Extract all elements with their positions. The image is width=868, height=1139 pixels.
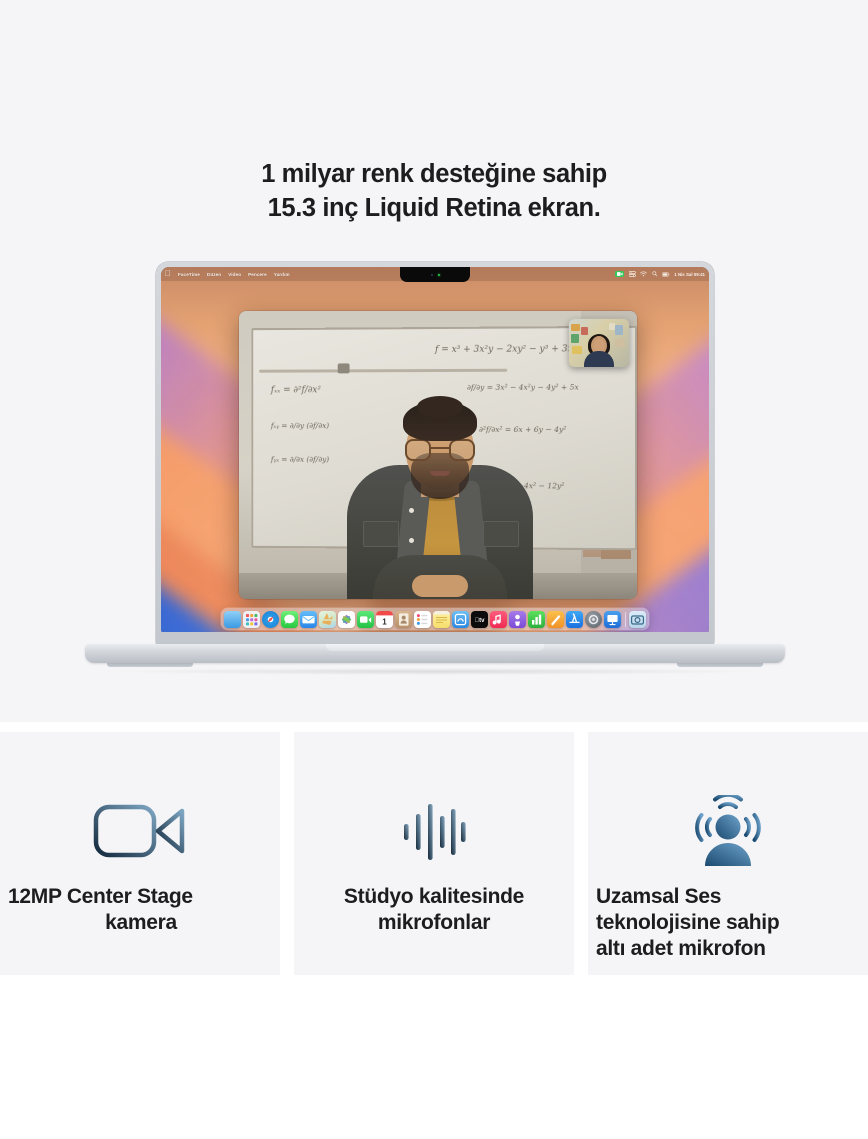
jacket-pocket-right [483,521,519,547]
laptop-base-notch [326,644,544,651]
facetime-window[interactable]: fₓₓ = ∂²f/∂x² fₓᵧ = ∂/∂y (∂f/∂x) fᵧₓ = ∂… [239,311,637,599]
page-title-line-1: 1 milyar renk desteğine sahip [0,158,868,192]
camera-on-dot [438,274,440,276]
dock-icon-reminders[interactable] [414,611,431,628]
menu-item-yardim[interactable]: Yardım [274,272,290,277]
pip-participant-body [584,351,614,367]
pip-poster [609,323,615,330]
whiteboard-equation: fₓₓ = ∂²f/∂x² [271,385,321,395]
dock-icon-mail[interactable] [300,611,317,628]
dock-icon-freeform[interactable] [452,611,469,628]
dock-icon-calendar[interactable]: 1 [376,611,393,628]
jacket-button [409,538,414,543]
laptop-screen:  FaceTime Düzen Video Pencere Yardım [161,267,709,632]
feature-card-spatial-audio: Uzamsal Ses teknolojisine sahip altı ade… [588,732,868,975]
glasses-lens-left [405,439,431,461]
search-icon[interactable] [652,271,658,277]
menu-bar-status-group: 1 Nis Sal 09:41 [615,271,705,277]
facetime-video-feed: fₓₓ = ∂²f/∂x² fₓᵧ = ∂/∂y (∂f/∂x) fᵧₓ = ∂… [239,311,637,599]
dock-icon-app-store[interactable] [566,611,583,628]
dock-icon-contacts[interactable] [395,611,412,628]
pip-poster [571,334,579,343]
dock-icon-notes[interactable] [433,611,450,628]
participant-mouth [430,471,450,476]
glasses-bridge [431,447,449,449]
menu-item-duzen[interactable]: Düzen [207,272,221,277]
laptop-base [85,644,785,674]
product-feature-page: 1 milyar renk desteğine sahip 15.3 inç L… [0,0,868,1139]
dock-icon-finder[interactable] [224,611,241,628]
menu-bar-left-group:  FaceTime Düzen Video Pencere Yardım [165,270,290,278]
pip-poster [615,325,623,335]
feature-label-line-2: teknolojisine sahip [596,910,862,936]
dock-icon-facetime[interactable] [357,611,374,628]
dock-icon-podcasts[interactable] [509,611,526,628]
feature-label-line-2: mikrofonlar [300,910,568,936]
dock-icon-pages[interactable] [547,611,564,628]
spatial-audio-person-icon [588,788,868,874]
audio-waveform-icon [294,788,574,874]
jacket-pocket-left [363,521,399,547]
feature-card-microphones-label: Stüdyo kalitesinde mikrofonlar [294,884,574,936]
glasses-lens-right [449,439,475,461]
feature-card-microphones: Stüdyo kalitesinde mikrofonlar [294,732,574,975]
menu-bar-clock[interactable]: 1 Nis Sal 09:41 [674,272,705,277]
laptop-lid:  FaceTime Düzen Video Pencere Yardım [156,262,714,646]
dock-icon-music[interactable] [490,611,507,628]
menu-item-facetime[interactable]: FaceTime [178,272,200,277]
whiteboard-equation: fₓᵧ = ∂/∂y (∂f/∂x) [271,421,329,430]
feature-label-line-1: Stüdyo kalitesinde [344,885,524,908]
battery-icon[interactable] [662,272,670,277]
feature-card-camera-label: 12MP Center Stage kamera [0,884,280,936]
dock-icon-system-settings[interactable] [585,611,602,628]
video-camera-icon [0,788,280,874]
ambient-sensor-dot [431,274,433,276]
pip-participant [584,333,614,367]
facetime-main-participant [347,399,533,599]
wifi-icon[interactable] [640,271,647,277]
dock-icon-launchpad[interactable] [243,611,260,628]
laptop-base-body [85,644,785,663]
page-title: 1 milyar renk desteğine sahip 15.3 inç L… [0,158,868,226]
feature-cards: 12MP Center Stage kamera [0,732,868,975]
menu-item-video[interactable]: Video [228,272,241,277]
dock-icon-keynote[interactable] [604,611,621,628]
camera-notch-icon [400,267,470,282]
laptop-foot-right [677,663,763,667]
pip-poster [571,324,580,331]
feature-label-line-1: 12MP Center Stage [8,885,193,908]
jacket-button [409,508,414,513]
dock-icon-messages[interactable] [281,611,298,628]
participant-hands [412,575,468,597]
whiteboard-clip [338,363,350,373]
dock-icon-numbers[interactable] [528,611,545,628]
laptop-shadow [115,668,755,675]
macbook-air-device:  FaceTime Düzen Video Pencere Yardım [85,262,785,674]
dock-icon-apple-tv[interactable]: tv [471,611,488,628]
svg-text:1: 1 [382,617,387,626]
whiteboard-equation: fᵧₓ = ∂/∂x (∂f/∂y) [271,455,329,464]
macos-dock[interactable]: 1tv [221,608,649,630]
svg-text:tv: tv [475,617,485,624]
whiteboard-equation: f = x³ + 3x²y − 2xy² − y³ + 3xy [435,344,578,355]
page-title-line-2: 15.3 inç Liquid Retina ekran. [0,192,868,226]
pip-poster [615,339,625,347]
feature-label-line-1: Uzamsal Ses [596,885,721,908]
facetime-pip-tile[interactable] [569,319,629,367]
whiteboard-rail [259,369,507,373]
dock-separator [625,612,626,627]
dock-icon-maps[interactable] [319,611,336,628]
hero-section: 1 milyar renk desteğine sahip 15.3 inç L… [0,0,868,722]
participant-glasses-icon [405,439,475,461]
control-center-icon[interactable] [629,271,636,277]
dock-icon-screenshot[interactable] [629,611,646,628]
feature-card-camera: 12MP Center Stage kamera [0,732,280,975]
laptop-foot-left [107,663,193,667]
whiteboard-equation: ∂f/∂y = 3x² − 4x²y − 4y² + 5x [467,383,579,392]
feature-card-spatial-audio-label: Uzamsal Ses teknolojisine sahip altı ade… [588,884,868,962]
menu-item-pencere[interactable]: Pencere [248,272,267,277]
dock-icon-photos[interactable] [338,611,355,628]
feature-label-line-3: altı adet mikrofon [596,936,862,962]
dock-icon-safari[interactable] [262,611,279,628]
participant-hair-top [417,396,463,418]
camera-active-indicator-icon [615,271,624,277]
pip-poster [572,346,582,354]
feature-label-line-2: kamera [8,910,274,936]
apple-logo-icon[interactable]:  [165,270,171,278]
